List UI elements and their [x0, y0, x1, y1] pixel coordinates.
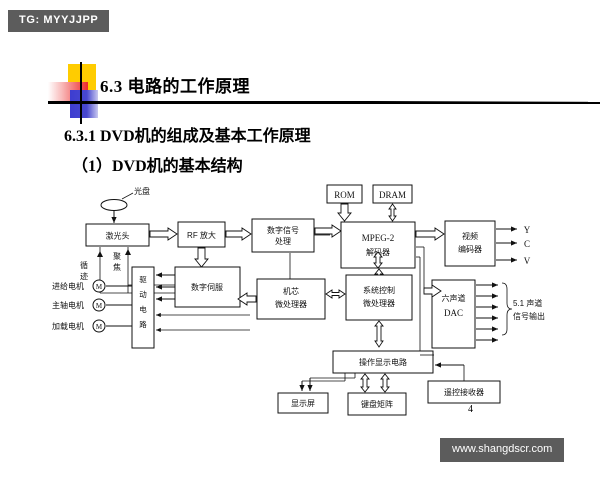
laser-head-label: 激光头	[106, 231, 130, 241]
section-subtitle-2: （1）DVD机的基本结构	[72, 152, 243, 176]
arrow-opdisplay-keypad-2	[381, 374, 389, 392]
dvd-block-diagram: 光盘 激光头 RF 放大 数字信号 处理 ROM DRAM MPEG-2 解	[0, 175, 600, 420]
video-encoder-line2: 编码器	[458, 244, 482, 254]
block-video-encoder	[445, 221, 495, 266]
keypad-label: 键盘矩阵	[361, 399, 393, 409]
logo-vertical-line	[80, 62, 82, 124]
tracking-label-1: 循	[80, 260, 88, 270]
block-system-mpu	[346, 275, 412, 320]
mech-mpu-line2: 微处理器	[275, 299, 307, 309]
motor-spindle-symbol-letter: M	[96, 302, 103, 310]
dsp-label-line2: 处理	[275, 236, 291, 246]
digital-servo-label: 数字伺服	[191, 282, 223, 292]
motor-load-label: 加载电机	[52, 321, 84, 331]
output-c-label: C	[524, 239, 530, 249]
arrow-rf-servo	[195, 248, 208, 267]
arrow-laserhead-rf	[150, 228, 177, 240]
audio-output-brace	[502, 283, 512, 335]
logo-horizontal-line	[48, 102, 600, 104]
video-encoder-line1: 视频	[462, 231, 478, 241]
arrow-rf-dsp	[226, 228, 251, 240]
arrow-dram-mpeg	[389, 204, 396, 221]
arrow-mechmpu-sysmpu	[326, 290, 345, 298]
logo-blue-square	[70, 90, 98, 118]
motor-spindle-label: 主轴电机	[52, 300, 84, 310]
remote-rx-label: 遥控接收器	[444, 387, 484, 397]
disc-label: 光盘	[134, 186, 150, 196]
focus-label-2: 焦	[113, 262, 121, 272]
output-y-label: Y	[524, 225, 531, 235]
motor-feed-symbol-letter: M	[96, 283, 103, 291]
mech-mpu-line1: 机芯	[283, 286, 299, 296]
block-digital-signal-processing	[252, 219, 314, 252]
site-watermark: www.shangdscr.com	[440, 438, 564, 462]
block-mechanism-mpu	[257, 279, 325, 319]
motor-feed-label: 进给电机	[52, 281, 84, 291]
tracking-label-2: 迹	[80, 271, 88, 281]
motor-load-symbol-letter: M	[96, 323, 103, 331]
drive-circuit-c4: 路	[139, 319, 147, 329]
rom-label: ROM	[334, 190, 355, 200]
arrow-mpeg-video-encoder	[416, 228, 444, 240]
section-subtitle: 6.3.1 DVD机的组成及基本工作原理	[64, 122, 311, 146]
title-underline	[48, 101, 588, 102]
audio-output-line1: 5.1 声道	[513, 298, 542, 308]
focus-label-1: 聚	[113, 252, 121, 261]
arrow-sysmpu-opdisplay	[375, 321, 383, 347]
arrow-rom-mpeg	[338, 204, 351, 221]
slide-canvas: TG: MYYJJPP 6.3 电路的工作原理 6.3.1 DVD机的组成及基本…	[0, 0, 600, 480]
dram-label: DRAM	[379, 190, 406, 200]
drive-circuit-c2: 动	[139, 289, 147, 299]
arrow-mechmpu-servo	[238, 293, 256, 305]
page-title: 6.3 电路的工作原理	[100, 72, 250, 97]
drive-circuit-c1: 驱	[139, 275, 147, 284]
audio-output-line2: 信号输出	[513, 311, 545, 321]
mpeg-label-line1: MPEG-2	[362, 233, 395, 243]
sys-mpu-line2: 微处理器	[363, 298, 395, 308]
arrow-opdisplay-keypad-1	[361, 374, 369, 392]
dac-line2: DAC	[444, 308, 463, 318]
sys-mpu-line1: 系统控制	[363, 285, 395, 295]
rf-amp-label: RF 放大	[187, 230, 216, 240]
dac-line1: 六声道	[442, 293, 466, 303]
dsp-label-line1: 数字信号	[267, 225, 299, 235]
drive-circuit-c3: 电	[139, 304, 147, 314]
output-v-label: V	[524, 256, 531, 266]
op-display-label: 操作显示电路	[359, 357, 407, 367]
disc-ellipse	[101, 200, 127, 211]
display-screen-label: 显示屏	[291, 399, 315, 408]
tg-badge: TG: MYYJJPP	[8, 10, 109, 32]
